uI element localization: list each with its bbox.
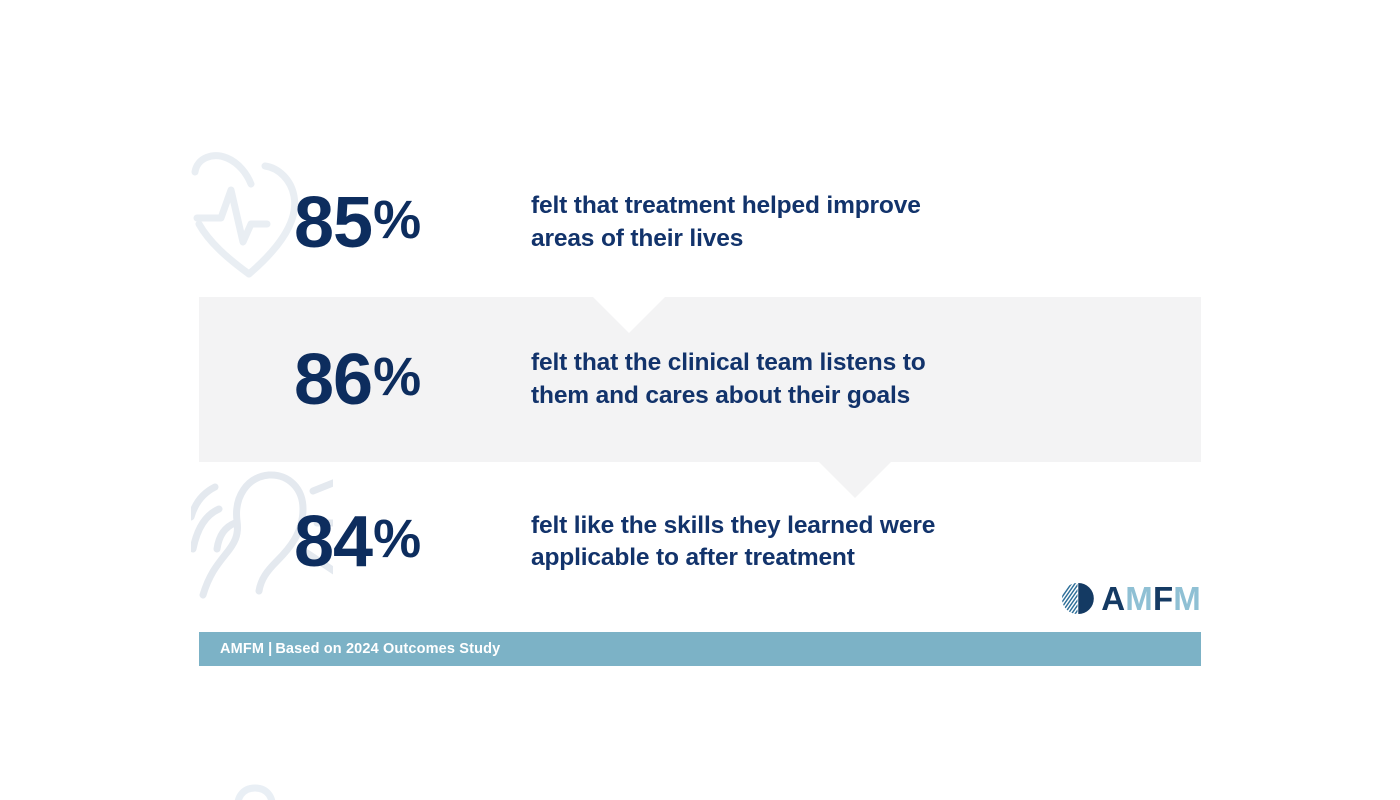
- amfm-logo-mark-icon: [1061, 582, 1094, 615]
- stat-row: 84% felt like the skills they learned we…: [199, 462, 1201, 622]
- stat-description-line: felt that the clinical team listens to: [531, 347, 926, 379]
- infographic-canvas: 85% felt that treatment helped improve a…: [0, 0, 1400, 800]
- stat-value: 84: [294, 502, 372, 582]
- percent-symbol: %: [373, 509, 420, 569]
- stat-description-line: felt that treatment helped improve: [531, 190, 921, 222]
- amfm-logo: AMFM: [1061, 582, 1201, 615]
- stat-description: felt like the skills they learned were a…: [489, 510, 935, 575]
- stats-panel: 85% felt that treatment helped improve a…: [199, 148, 1201, 668]
- stat-percentage: 84%: [199, 506, 489, 578]
- stat-percentage: 85%: [199, 187, 489, 259]
- source-footer-text: AMFM|Based on 2024 Outcomes Study: [199, 641, 500, 657]
- puzzle-piece-icon: [191, 784, 333, 800]
- logo-letter: F: [1153, 580, 1173, 617]
- stat-percentage: 86%: [199, 344, 489, 416]
- stat-description-line: felt like the skills they learned were: [531, 510, 935, 542]
- stat-description-line: areas of their lives: [531, 223, 921, 255]
- stat-description: felt that treatment helped improve areas…: [489, 190, 921, 255]
- logo-letter: M: [1173, 580, 1201, 617]
- stat-description-line: them and cares about their goals: [531, 380, 926, 412]
- stat-row: 86% felt that the clinical team listens …: [199, 297, 1201, 462]
- stat-value: 86: [294, 340, 372, 420]
- footer-brand: AMFM: [220, 641, 264, 657]
- footer-divider: |: [264, 641, 275, 657]
- logo-letter: A: [1101, 580, 1125, 617]
- stat-description-line: applicable to after treatment: [531, 542, 935, 574]
- percent-symbol: %: [373, 190, 420, 250]
- source-footer-bar: AMFM|Based on 2024 Outcomes Study: [199, 632, 1201, 666]
- percent-symbol: %: [373, 347, 420, 407]
- stat-value: 85: [294, 183, 372, 263]
- stat-description: felt that the clinical team listens to t…: [489, 347, 926, 412]
- amfm-logo-wordmark: AMFM: [1101, 582, 1201, 615]
- stat-row: 85% felt that treatment helped improve a…: [199, 148, 1201, 297]
- logo-letter: M: [1125, 580, 1153, 617]
- footer-source: Based on 2024 Outcomes Study: [275, 641, 500, 657]
